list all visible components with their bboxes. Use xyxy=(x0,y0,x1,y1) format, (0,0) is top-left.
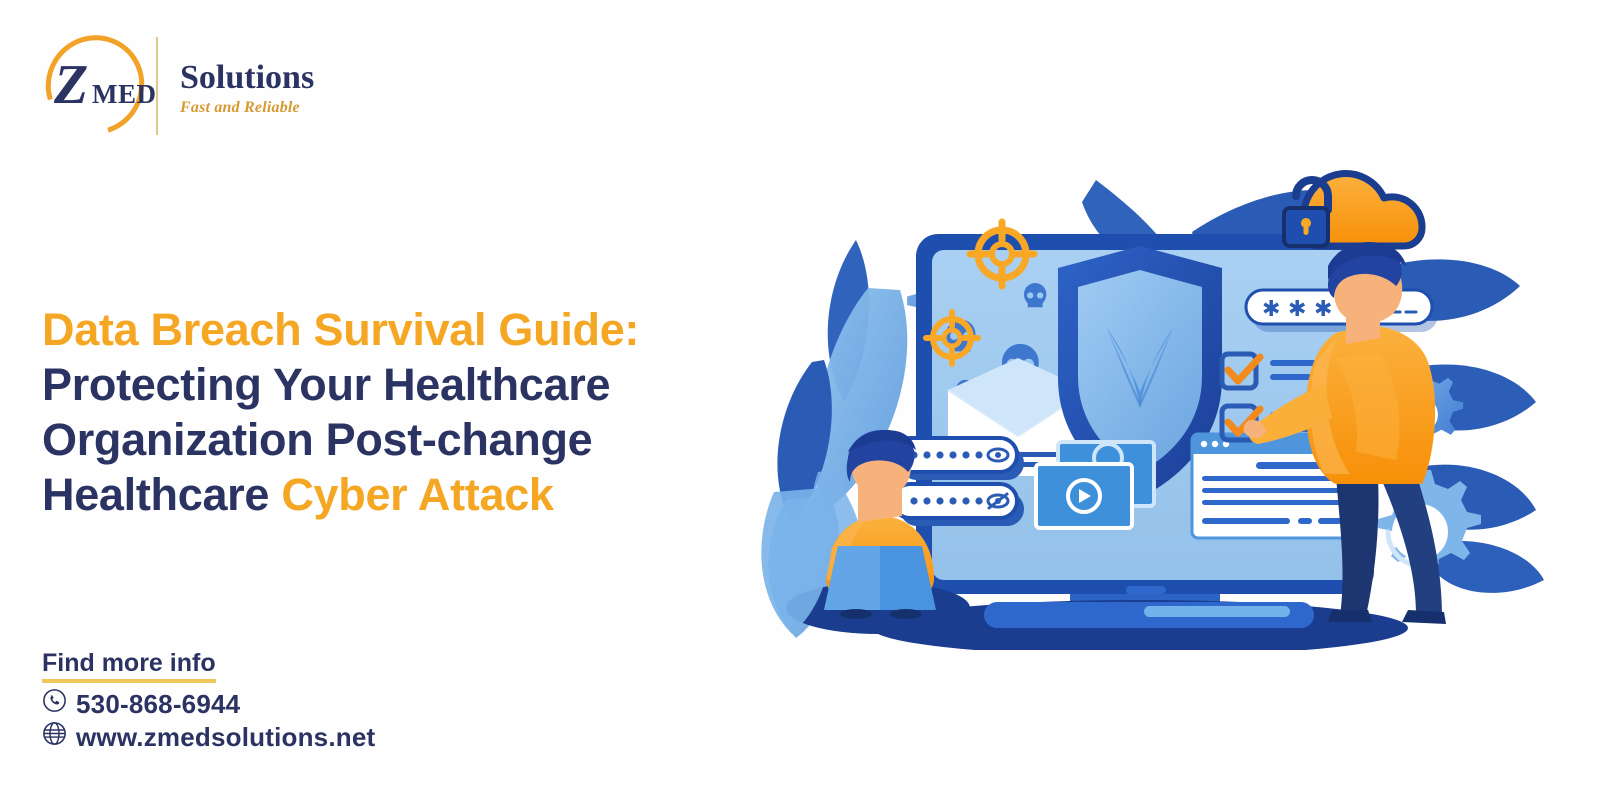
logo-wordmark: Solutions Fast and Reliable xyxy=(180,54,314,117)
website-row[interactable]: www.zmedsolutions.net xyxy=(42,721,375,754)
phone-number: 530-868-6944 xyxy=(76,688,240,721)
password-field xyxy=(893,484,1024,526)
logo-text-med: MED xyxy=(92,81,157,108)
brand-tagline: Fast and Reliable xyxy=(180,98,314,117)
headline-line-3: Organization Post-change xyxy=(42,412,782,467)
cyber-security-illustration: ✱✱✱✱ xyxy=(740,140,1570,650)
headline-line-4-accent: Cyber Attack xyxy=(281,469,553,520)
cloud-unlocked-padlock xyxy=(1284,174,1422,246)
page-title: Data Breach Survival Guide: Protecting Y… xyxy=(42,302,782,522)
svg-text:✱: ✱ xyxy=(1314,297,1332,322)
svg-text:✱: ✱ xyxy=(1288,297,1306,322)
zmed-logo-mark: Z MED xyxy=(40,33,150,138)
find-more-info-label: Find more info xyxy=(42,648,216,683)
headline-line-4-plain: Healthcare xyxy=(42,469,281,520)
brand-name: Solutions xyxy=(180,60,314,96)
headline-line-1: Data Breach Survival Guide: xyxy=(42,302,782,357)
headline-line-4: Healthcare Cyber Attack xyxy=(42,467,782,522)
svg-text:✱: ✱ xyxy=(1262,297,1280,322)
contact-block: Find more info 530-868-6944 www.zmedsolu… xyxy=(42,648,375,754)
phone-row[interactable]: 530-868-6944 xyxy=(42,688,375,721)
logo-letter-z: Z xyxy=(54,57,88,113)
marketing-banner: Z MED Solutions Fast and Reliable Data B… xyxy=(0,0,1600,800)
website-url: www.zmedsolutions.net xyxy=(76,721,375,754)
headline-line-2: Protecting Your Healthcare xyxy=(42,357,782,412)
globe-icon xyxy=(42,721,67,754)
brand-logo[interactable]: Z MED Solutions Fast and Reliable xyxy=(40,33,314,138)
phone-circle-icon xyxy=(42,688,67,721)
